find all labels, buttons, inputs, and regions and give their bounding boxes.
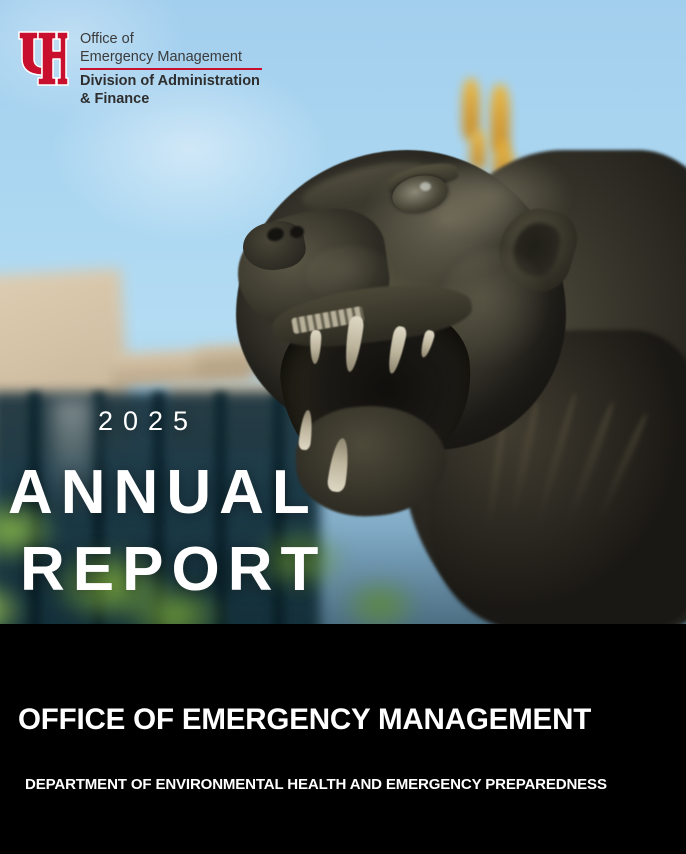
uh-logo-lockup: Office of Emergency Management Division …	[16, 28, 262, 108]
footer-subtitle: DEPARTMENT OF ENVIRONMENTAL HEALTH AND E…	[25, 776, 664, 793]
cover-title-line2: REPORT	[20, 539, 326, 601]
cover-year: 2025	[98, 406, 198, 437]
cover-title-line1: ANNUAL	[8, 462, 318, 524]
uh-interlocking-logo-icon	[16, 28, 70, 88]
footer-band	[0, 624, 686, 854]
logo-text-block: Office of Emergency Management Division …	[80, 28, 262, 108]
logo-red-rule	[80, 68, 262, 70]
annual-report-cover-page: 2025 ANNUAL REPORT Office of Emergency M…	[0, 0, 686, 854]
footer-title: OFFICE OF EMERGENCY MANAGEMENT	[18, 703, 658, 737]
eye-highlight	[420, 182, 431, 191]
logo-office-line: Office of Emergency Management	[80, 31, 262, 66]
logo-division-line: Division of Administration & Finance	[80, 73, 262, 108]
cover-photo: 2025 ANNUAL REPORT Office of Emergency M…	[0, 0, 686, 624]
